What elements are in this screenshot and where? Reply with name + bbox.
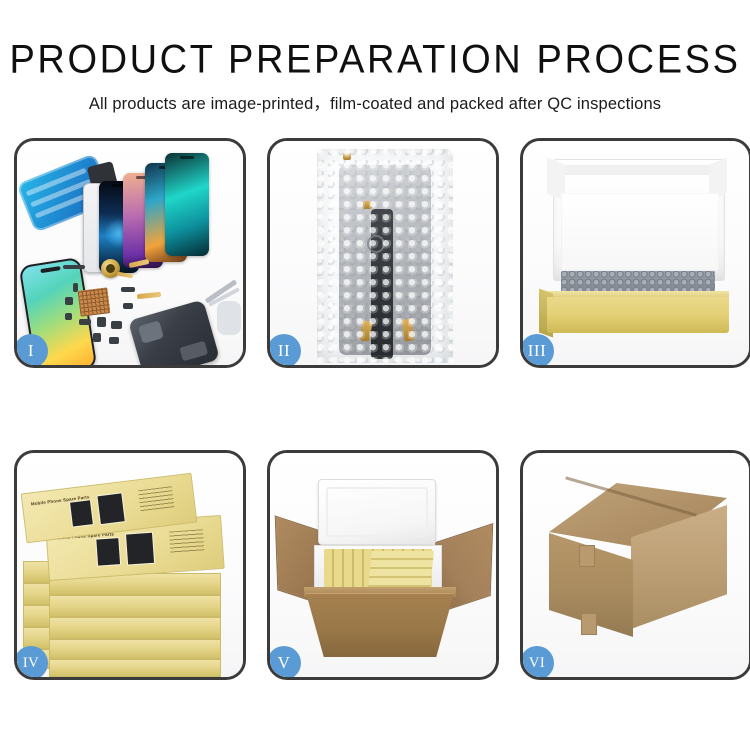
copper-mesh-icon (78, 287, 111, 316)
kraft-boxes-inside-icon (368, 551, 434, 589)
step-badge-2: II (267, 334, 301, 368)
product-preparation-infographic: PRODUCT PREPARATION PROCESS All products… (0, 0, 750, 750)
step-badge-6: VI (520, 646, 554, 680)
page-title: PRODUCT PREPARATION PROCESS (0, 39, 750, 82)
step-badge-5: V (267, 646, 301, 680)
kraft-box-front-icon (547, 297, 729, 333)
small-part-icon (63, 265, 85, 269)
small-part-icon (109, 337, 119, 344)
step-panel-4[interactable]: Mobile Phone Spare Parts Mobile Phone Sp… (14, 450, 246, 680)
step-panel-1[interactable]: I (14, 138, 246, 368)
header: PRODUCT PREPARATION PROCESS All products… (0, 0, 750, 114)
step-badge-4: IV (14, 646, 48, 680)
step-panel-3[interactable]: III (520, 138, 750, 368)
step-5-photo (270, 453, 496, 677)
box-stack-icon: Mobile Phone Spare Parts Mobile Phone Sp… (17, 453, 246, 680)
step-badge-1: I (14, 334, 48, 368)
kraft-box-icon (49, 595, 221, 617)
small-part-icon (93, 333, 101, 342)
kraft-box-icon (49, 617, 221, 639)
step-badge-3: III (520, 334, 554, 368)
kraft-box-icon (49, 659, 221, 677)
step-3-photo (523, 141, 749, 365)
page-subtitle: All products are image-printed，film-coat… (0, 90, 750, 114)
step-6-photo (523, 453, 749, 677)
step-panel-6[interactable]: VI (520, 450, 750, 680)
step-1-photo (17, 141, 243, 365)
small-part-icon (123, 303, 133, 309)
styrofoam-lid-icon (318, 479, 436, 545)
foam-sheet-icon (561, 193, 719, 271)
carton-front-icon (306, 593, 454, 657)
label-window-icon (69, 499, 94, 527)
box-back-wall-icon (551, 165, 727, 175)
small-part-icon (121, 287, 135, 292)
tape-patch-icon (581, 613, 597, 635)
small-part-icon (111, 321, 122, 329)
kraft-box-icon (49, 639, 221, 659)
label-spec-lines-icon (169, 529, 204, 553)
step-panel-2[interactable]: II (267, 138, 499, 368)
bubble-texture-icon (317, 149, 453, 363)
process-step-grid: I II (14, 138, 736, 680)
phone-screen-icon (165, 153, 209, 256)
flex-cable-icon (137, 292, 161, 299)
label-window-icon (96, 492, 125, 525)
label-window-icon (95, 537, 121, 567)
tape-patch-icon (579, 545, 595, 567)
step-2-photo (270, 141, 496, 365)
step-4-photo: Mobile Phone Spare Parts Mobile Phone Sp… (17, 453, 243, 677)
label-window-icon (125, 532, 155, 566)
small-part-icon (65, 297, 73, 305)
small-part-icon (65, 313, 72, 320)
small-part-icon (79, 319, 91, 325)
step-panel-5[interactable]: V (267, 450, 499, 680)
small-part-icon (97, 317, 106, 327)
bubble-wrap-bag-icon (317, 149, 453, 363)
small-part-icon (73, 283, 78, 292)
phone-back-housing-icon (128, 299, 220, 368)
label-spec-lines-icon (138, 486, 174, 512)
hand-icon (217, 301, 241, 335)
